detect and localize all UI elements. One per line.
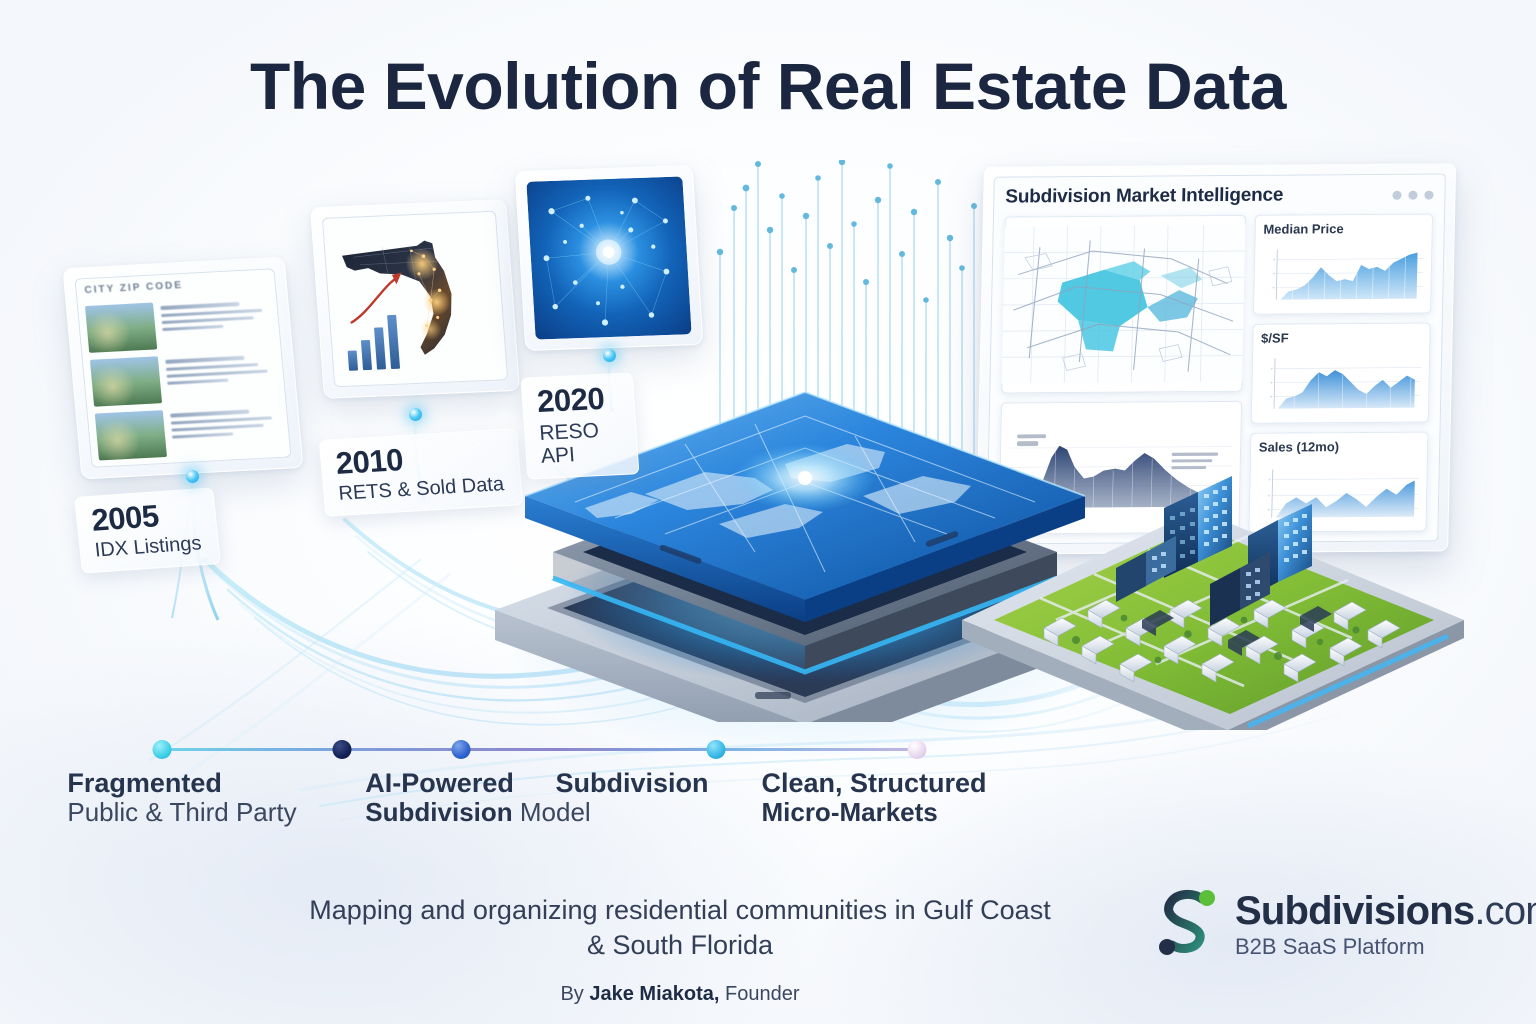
timeline-label-bold: Subdivision — [365, 797, 512, 827]
timeline-label-bold: Micro-Markets — [761, 797, 937, 827]
tagline-line-1: Mapping and organizing residential commu… — [180, 893, 1180, 928]
author-name: Jake Miakota, — [589, 983, 719, 1005]
era-year: 2005 — [90, 498, 200, 536]
era-caption: IDX Listings — [94, 533, 203, 562]
author-role: Founder — [719, 983, 799, 1005]
byline: By Jake Miakota, Founder — [180, 983, 1180, 1006]
era-year: 2010 — [335, 438, 503, 479]
page-title: The Evolution of Real Estate Data — [0, 48, 1536, 124]
brand-text: Subdivisions.com B2B SaaS Platform — [1235, 891, 1536, 958]
tagline: Mapping and organizing residential commu… — [180, 893, 1180, 962]
bottom-timeline: Fragmented Public & Third Party AI-Power… — [0, 728, 1536, 858]
era-label-2010: 2010 RETS & Sold Data — [319, 428, 523, 517]
timeline-item-subdivision: Subdivision — [555, 768, 708, 798]
brand-tld: .com — [1474, 889, 1536, 933]
timeline-label-primary: Subdivision — [555, 768, 708, 798]
timeline-label-primary: Fragmented — [67, 768, 296, 798]
connector-node-2010 — [409, 408, 422, 421]
timeline-label-secondary: Public & Third Party — [67, 798, 296, 827]
timeline-dot[interactable] — [707, 740, 726, 759]
timeline-item-fragmented: Fragmented Public & Third Party — [67, 768, 296, 827]
timeline-track — [160, 748, 920, 751]
timeline-label-primary: Clean, Structured — [761, 768, 986, 798]
timeline-dot[interactable] — [908, 740, 927, 759]
timeline-label-secondary: Subdivision Model — [365, 798, 590, 827]
era-label-2020: 2020 RESO API — [520, 372, 639, 479]
timeline-dot[interactable] — [333, 740, 352, 759]
brand-word: Subdivisions — [1235, 889, 1474, 933]
tagline-line-2: & South Florida — [180, 928, 1180, 963]
stylized-s-logo-icon — [1155, 887, 1221, 961]
brand-name: Subdivisions.com — [1235, 891, 1536, 931]
timeline-dot[interactable] — [153, 740, 172, 759]
connector-node-2005 — [186, 470, 199, 483]
connector-beams — [0, 0, 1536, 1024]
timeline-label-secondary: Micro-Markets — [761, 798, 986, 827]
brand-subtitle: B2B SaaS Platform — [1235, 936, 1536, 958]
timeline-dot[interactable] — [452, 740, 471, 759]
timeline-label-tail: Model — [513, 797, 591, 827]
era-year: 2020 — [536, 382, 618, 417]
infographic-canvas: The Evolution of Real Estate Data CITY Z… — [0, 0, 1536, 1024]
brand-logo[interactable]: Subdivisions.com B2B SaaS Platform — [1155, 876, 1505, 972]
byline-prefix: By — [560, 983, 589, 1005]
connector-node-2020 — [603, 349, 616, 362]
era-label-2005: 2005 IDX Listings — [74, 487, 221, 573]
era-caption: RESO API — [539, 418, 622, 468]
timeline-item-micro-markets: Clean, Structured Micro-Markets — [761, 768, 986, 827]
